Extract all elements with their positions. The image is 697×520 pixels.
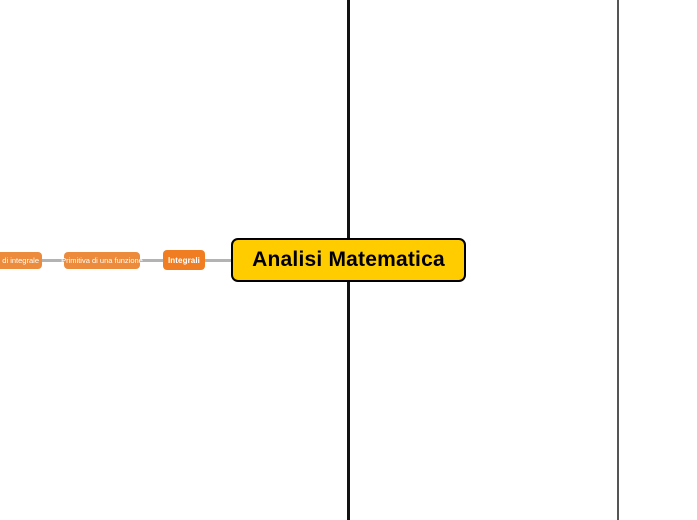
mindmap-node-definizione-di-integrale[interactable]: Definizione di integrale bbox=[0, 252, 42, 269]
mindmap-node-integrali[interactable]: Integrali bbox=[163, 250, 205, 270]
mindmap-node-root[interactable]: Analisi Matematica bbox=[231, 238, 466, 282]
mindmap-node-primitiva-di-una-funzione[interactable]: Primitiva di una funzione bbox=[64, 252, 140, 269]
secondary-vertical-rule bbox=[617, 0, 619, 520]
connector-root-to-integrali bbox=[205, 259, 232, 262]
mindmap-canvas[interactable]: Analisi Matematica Integrali Primitiva d… bbox=[0, 0, 697, 520]
